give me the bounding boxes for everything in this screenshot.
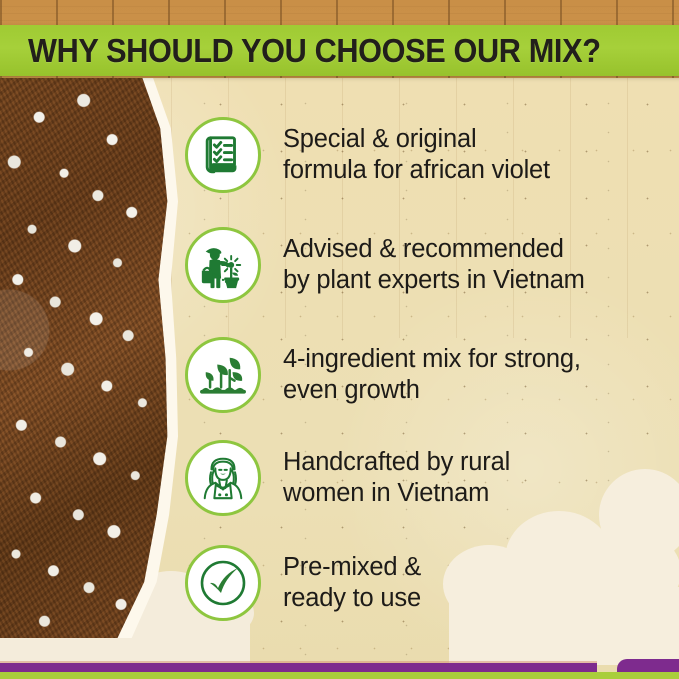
- checklist-scroll-icon: [200, 132, 246, 178]
- list-item: Advised & recommended by plant experts i…: [185, 227, 665, 303]
- list-item: Pre-mixed & ready to use: [185, 545, 665, 621]
- feature-text: 4-ingredient mix for strong, even growth: [283, 344, 581, 406]
- soil-photo-panel: [0, 78, 178, 638]
- list-item: Special & original formula for african v…: [185, 117, 665, 193]
- feature-text: Advised & recommended by plant experts i…: [283, 234, 585, 296]
- feature-badge: [185, 117, 261, 193]
- feature-badge: [185, 545, 261, 621]
- gardener-watering-plant-icon: [198, 240, 248, 290]
- feature-text: Special & original formula for african v…: [283, 124, 550, 186]
- circle-checkmark-icon: [196, 556, 250, 610]
- feature-badge: [185, 440, 261, 516]
- feature-text: Handcrafted by rural women in Vietnam: [283, 447, 510, 509]
- footer-green-band: [0, 672, 679, 679]
- page-title: WHY SHOULD YOU CHOOSE OUR MIX?: [28, 25, 623, 76]
- list-item: Handcrafted by rural women in Vietnam: [185, 440, 665, 516]
- feature-badge: [185, 227, 261, 303]
- feature-text: Pre-mixed & ready to use: [283, 552, 421, 614]
- footer-purple-band-step: [617, 659, 679, 672]
- seedlings-sprouts-icon: [198, 353, 248, 397]
- feature-badge: [185, 337, 261, 413]
- rural-woman-icon: [198, 453, 248, 503]
- list-item: 4-ingredient mix for strong, even growth: [185, 337, 665, 413]
- footer-purple-band: [0, 663, 597, 672]
- infographic-canvas: WHY SHOULD YOU CHOOSE OUR MIX?: [0, 0, 679, 679]
